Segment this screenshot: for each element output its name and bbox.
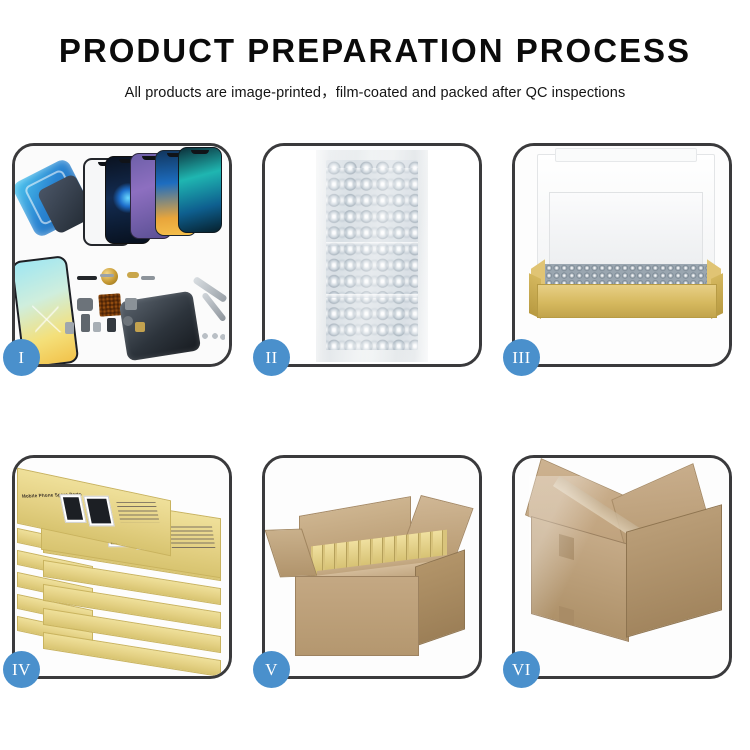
step-panel-2: II xyxy=(262,143,482,367)
box-spec-lines xyxy=(169,527,216,549)
step-image-6 xyxy=(515,458,729,676)
box-stack-icon: Mobile Phone Spare Parts Mobile Phone Sp… xyxy=(15,458,229,676)
carton-tab-icon xyxy=(559,534,574,560)
part-icon xyxy=(141,276,155,280)
part-icon xyxy=(77,276,97,280)
page-title: PRODUCT PREPARATION PROCESS xyxy=(0,34,750,67)
step-badge-2: II xyxy=(253,339,290,376)
step-panel-5: V xyxy=(262,455,482,679)
carton-tab-icon xyxy=(559,606,574,626)
step-panel-6: VI xyxy=(512,455,732,679)
mailer-base-icon xyxy=(537,284,717,318)
part-icon xyxy=(123,316,133,326)
step-panel-4: Mobile Phone Spare Parts Mobile Phone Sp… xyxy=(12,455,232,679)
step-badge-5: V xyxy=(253,651,290,688)
chip-grid-icon xyxy=(98,293,121,316)
part-icon xyxy=(125,298,137,310)
mailer-lid-face-icon xyxy=(549,192,703,268)
mailer-lid-tab-icon xyxy=(555,148,697,162)
part-icon xyxy=(135,322,145,332)
carton-front-face-icon xyxy=(295,576,419,656)
part-icon xyxy=(100,274,114,277)
carton-side-face-icon xyxy=(415,549,465,646)
product-preparation-infographic: PRODUCT PREPARATION PROCESS All products… xyxy=(0,0,750,750)
step-badge-3: III xyxy=(503,339,540,376)
part-icon xyxy=(81,314,90,332)
screws-icon xyxy=(201,332,225,340)
step-badge-4: IV xyxy=(3,651,40,688)
step-image-3 xyxy=(515,146,729,364)
part-icon xyxy=(107,318,116,332)
plastic-sheen-icon xyxy=(316,150,428,362)
step-image-1 xyxy=(15,146,229,364)
part-icon xyxy=(65,322,74,334)
process-steps-grid: I II xyxy=(12,143,737,679)
header: PRODUCT PREPARATION PROCESS All products… xyxy=(0,0,750,102)
step-image-4: Mobile Phone Spare Parts Mobile Phone Sp… xyxy=(15,458,229,676)
part-icon xyxy=(93,322,101,332)
phone-display-teal-icon xyxy=(178,147,222,233)
step-panel-1: I xyxy=(12,143,232,367)
part-icon xyxy=(77,298,93,311)
part-icon xyxy=(127,272,139,278)
step-image-2 xyxy=(265,146,479,364)
page-subtitle: All products are image-printed，film-coat… xyxy=(0,81,750,102)
step-image-5 xyxy=(265,458,479,676)
step-badge-6: VI xyxy=(503,651,540,688)
box-spec-lines xyxy=(116,502,159,522)
step-badge-1: I xyxy=(3,339,40,376)
box-product-image xyxy=(59,494,86,523)
box-product-image xyxy=(83,496,115,527)
step-panel-3: III xyxy=(512,143,732,367)
